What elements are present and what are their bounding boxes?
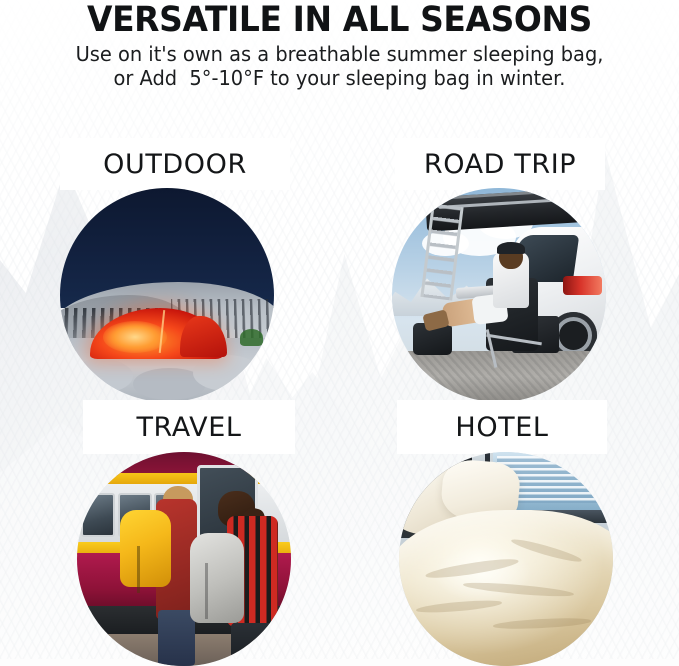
hotel-bed-photo — [399, 452, 613, 666]
subtitle-line-2: or Add 5°-10°F to your sleeping bag in w… — [10, 66, 669, 90]
page-title: VERSATILE IN ALL SEASONS — [20, 1, 658, 39]
traveler-1-jeans — [158, 610, 194, 666]
train-roof — [77, 452, 291, 476]
train-window — [81, 493, 115, 538]
snow-mound — [193, 355, 261, 391]
travel-train-photo — [77, 452, 291, 666]
person-cap — [497, 242, 525, 255]
yellow-backpack — [120, 510, 171, 587]
yellow-backpack-strap — [137, 546, 140, 593]
tent-inner-glow — [103, 321, 167, 353]
gravel-ground — [392, 351, 606, 402]
feature-cell-outdoor: OUTDOOR — [60, 138, 292, 378]
grey-backpack — [190, 533, 244, 623]
green-gear — [240, 329, 264, 346]
train-yellow-stripe-top — [77, 473, 291, 484]
subtitle-line-1: Use on it's own as a breathable summer s… — [10, 42, 669, 66]
label-travel: TRAVEL — [83, 400, 295, 454]
snow-mound — [69, 359, 133, 393]
label-hotel: HOTEL — [397, 400, 607, 454]
road-trip-photo — [392, 188, 606, 402]
outdoor-tent-photo — [60, 188, 274, 402]
grey-backpack-strap — [205, 563, 208, 619]
traveler-2-trousers — [231, 623, 274, 666]
feature-cell-hotel: HOTEL — [397, 400, 611, 659]
feature-cell-travel: TRAVEL — [77, 400, 301, 659]
label-outdoor: OUTDOOR — [60, 138, 290, 190]
label-road-trip: ROAD TRIP — [395, 138, 605, 190]
car-tail-light — [563, 276, 602, 295]
header: VERSATILE IN ALL SEASONS Use on it's own… — [0, 0, 679, 90]
feature-cell-road-trip: ROAD TRIP — [395, 138, 609, 378]
subtitle: Use on it's own as a breathable summer s… — [10, 42, 669, 90]
